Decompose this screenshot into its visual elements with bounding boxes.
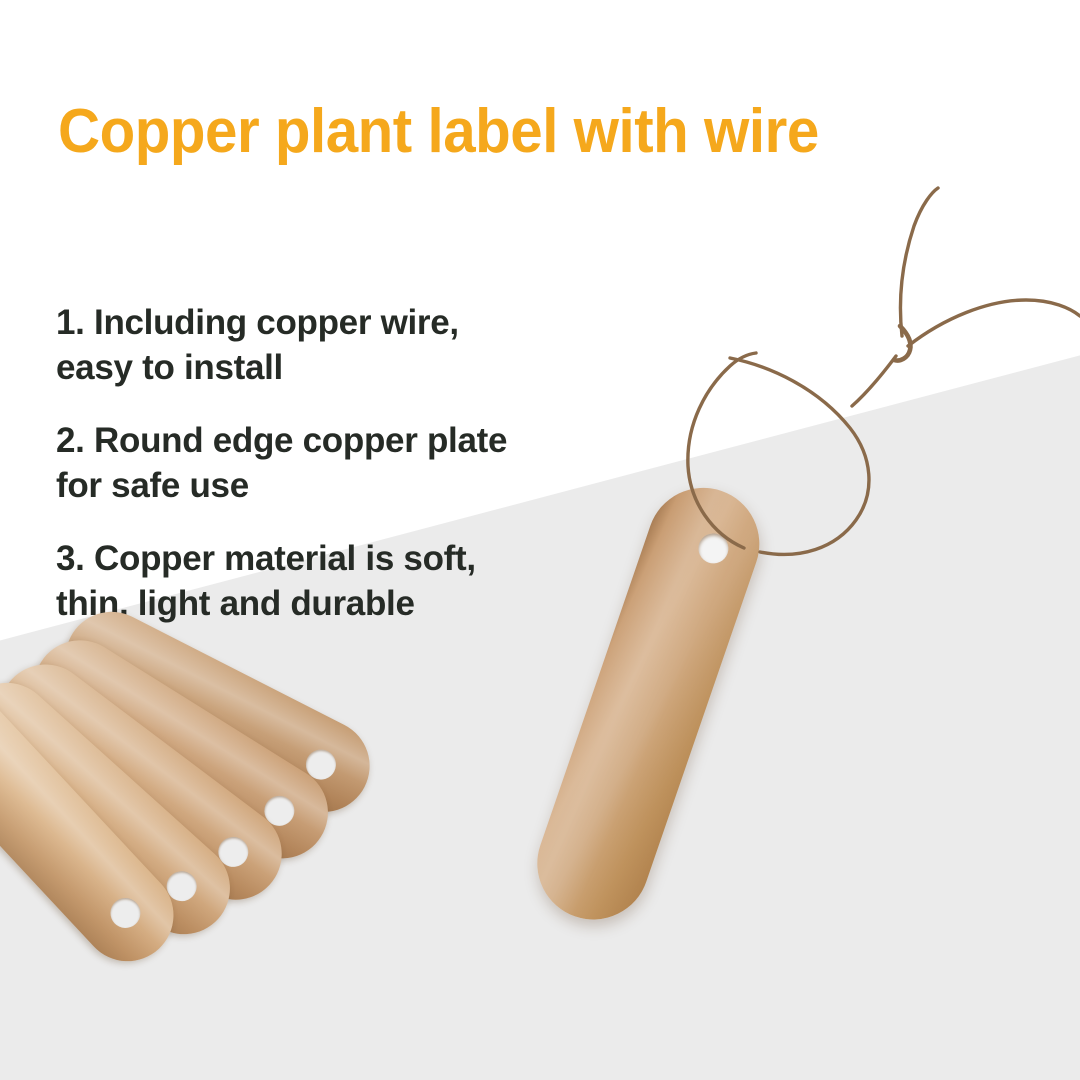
feature-item-2: 2. Round edge copper plate for safe use: [56, 418, 526, 508]
page-title: Copper plant label with wire: [58, 96, 819, 168]
feature-item-3: 3. Copper material is soft, thin, light …: [56, 536, 526, 626]
infographic-canvas: Copper plant label with wire 1. Includin…: [0, 0, 1080, 1080]
feature-list: 1. Including copper wire, easy to instal…: [56, 300, 526, 626]
feature-item-1: 1. Including copper wire, easy to instal…: [56, 300, 526, 390]
